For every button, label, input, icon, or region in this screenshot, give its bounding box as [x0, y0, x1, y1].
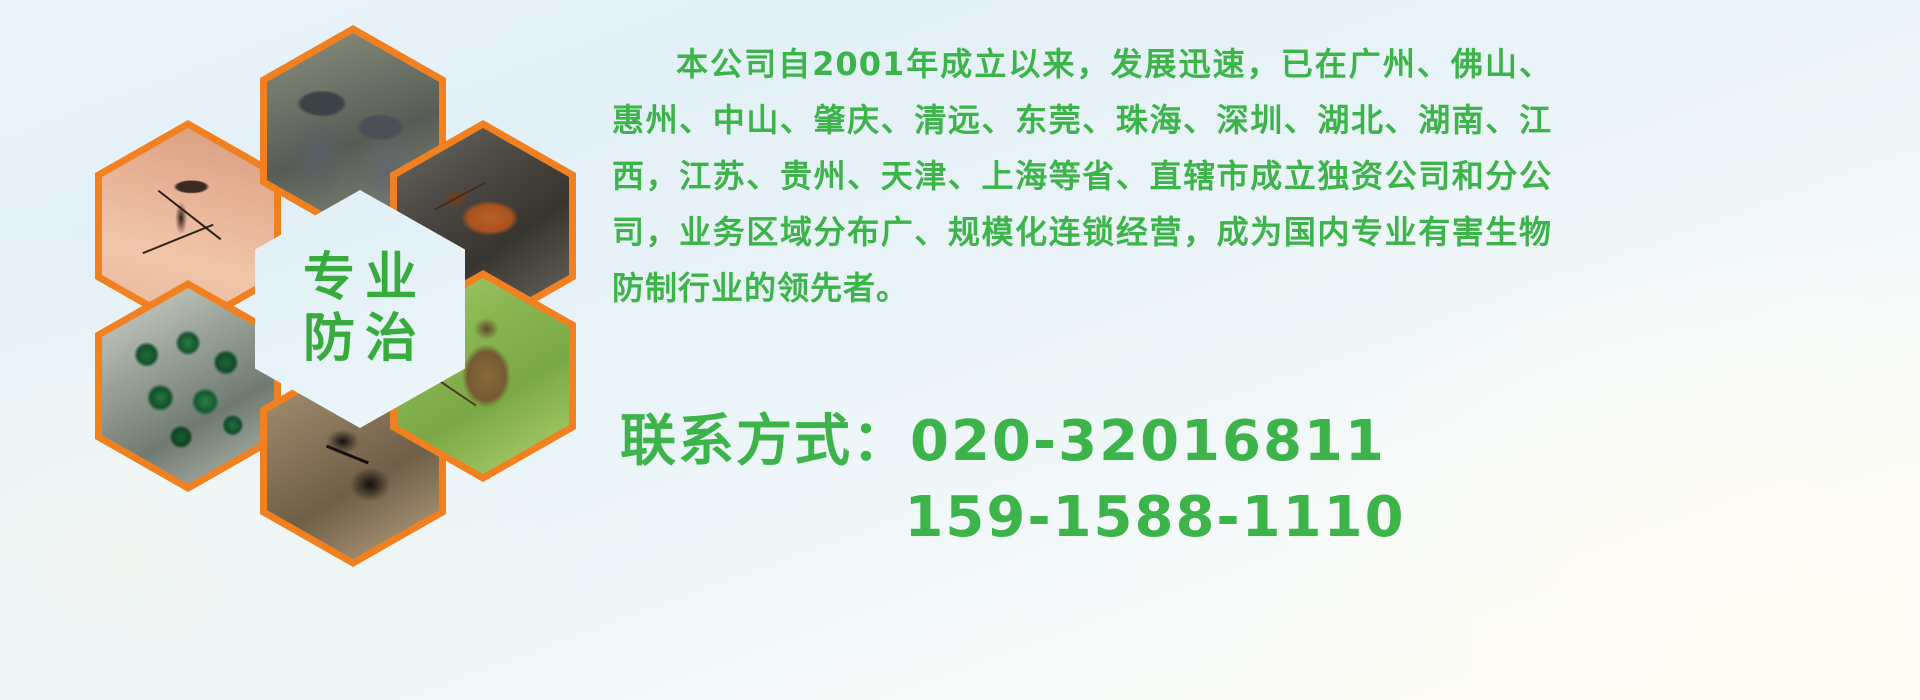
honeycomb-photo-collage: 专业 防治 [95, 10, 595, 570]
contact-block: 联系方式：020-32016811 159-1588-1110 [620, 404, 1560, 556]
logo-line-1: 专业 [293, 248, 427, 309]
pest-control-banner: 专业 防治 本公司自2001年成立以来，发展迅速，已在广州、佛山、惠州、中山、肇… [0, 0, 1920, 700]
hex-flies[interactable] [95, 280, 281, 492]
about-paragraph: 本公司自2001年成立以来，发展迅速，已在广州、佛山、惠州、中山、肇庆、清远、东… [612, 36, 1552, 316]
flies-photo [102, 288, 274, 484]
contact-line-1[interactable]: 联系方式：020-32016811 [620, 409, 1386, 474]
about-paragraph-text: 本公司自2001年成立以来，发展迅速，已在广州、佛山、惠州、中山、肇庆、清远、东… [612, 36, 1552, 316]
contact-line-2[interactable]: 159-1588-1110 [620, 480, 1560, 556]
logo-line-2: 防治 [293, 309, 427, 370]
